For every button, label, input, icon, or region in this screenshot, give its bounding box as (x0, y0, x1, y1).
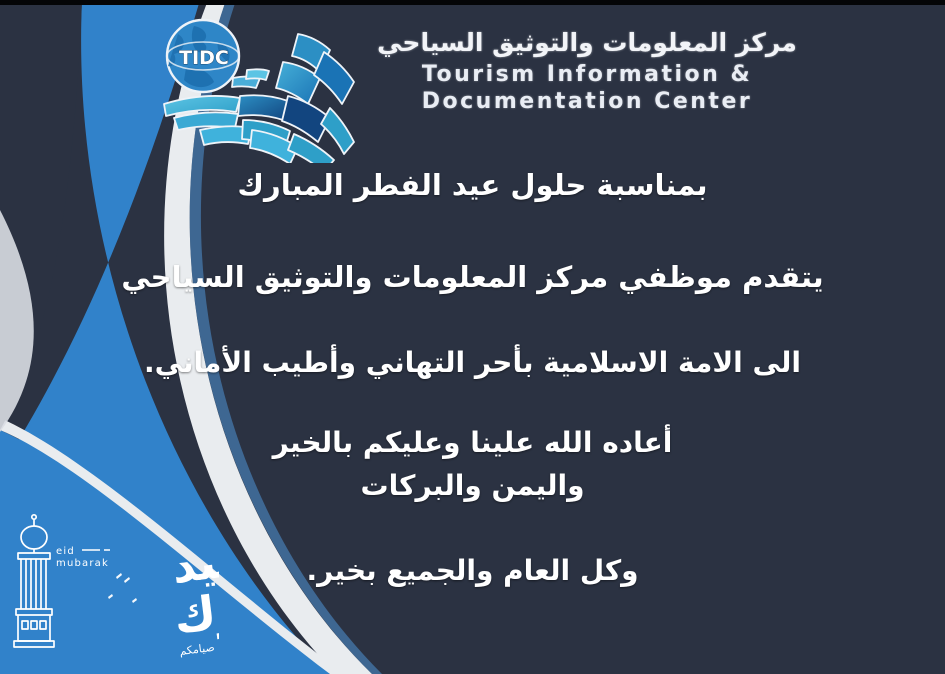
mosque-minaret-icon (14, 515, 54, 647)
calligraphy-accent-marks (108, 573, 137, 603)
eid-latin-line-2: mubarak (56, 558, 109, 569)
tidc-logo: TIDC (148, 8, 363, 163)
brand-english-line-1: Tourism Information & (377, 62, 797, 89)
eid-mubarak-svg: eid mubarak عيد مبارك عيد مبارك تقبل الل… (4, 505, 219, 670)
message-line-3: الى الامة الاسلامية بأحر التهاني وأطيب ا… (0, 346, 945, 379)
eid-latin-line-1: eid (56, 546, 75, 557)
brand-arabic-title: مركز المعلومات والتوثيق السياحي (377, 28, 797, 58)
card-header: TIDC (0, 12, 945, 162)
message-line-5: واليمن والبركات (0, 469, 945, 502)
eid-greeting-card: TIDC (0, 0, 945, 674)
message-line-1: بمناسبة حلول عيد الفطر المبارك (0, 168, 945, 202)
tidc-logo-svg: TIDC (148, 8, 363, 163)
top-black-bar (0, 0, 945, 5)
message-line-4: أعاده الله علينا وعليكم بالخير (0, 426, 945, 459)
brand-english-line-2: Documentation Center (377, 89, 797, 116)
eid-mubarak-badge: eid mubarak عيد مبارك عيد مبارك تقبل الل… (4, 505, 219, 670)
logo-acronym: TIDC (179, 47, 229, 69)
brand-text-block: مركز المعلومات والتوثيق السياحي Tourism … (377, 12, 797, 116)
message-line-2: يتقدم موظفي مركز المعلومات والتوثيق السي… (0, 260, 945, 294)
